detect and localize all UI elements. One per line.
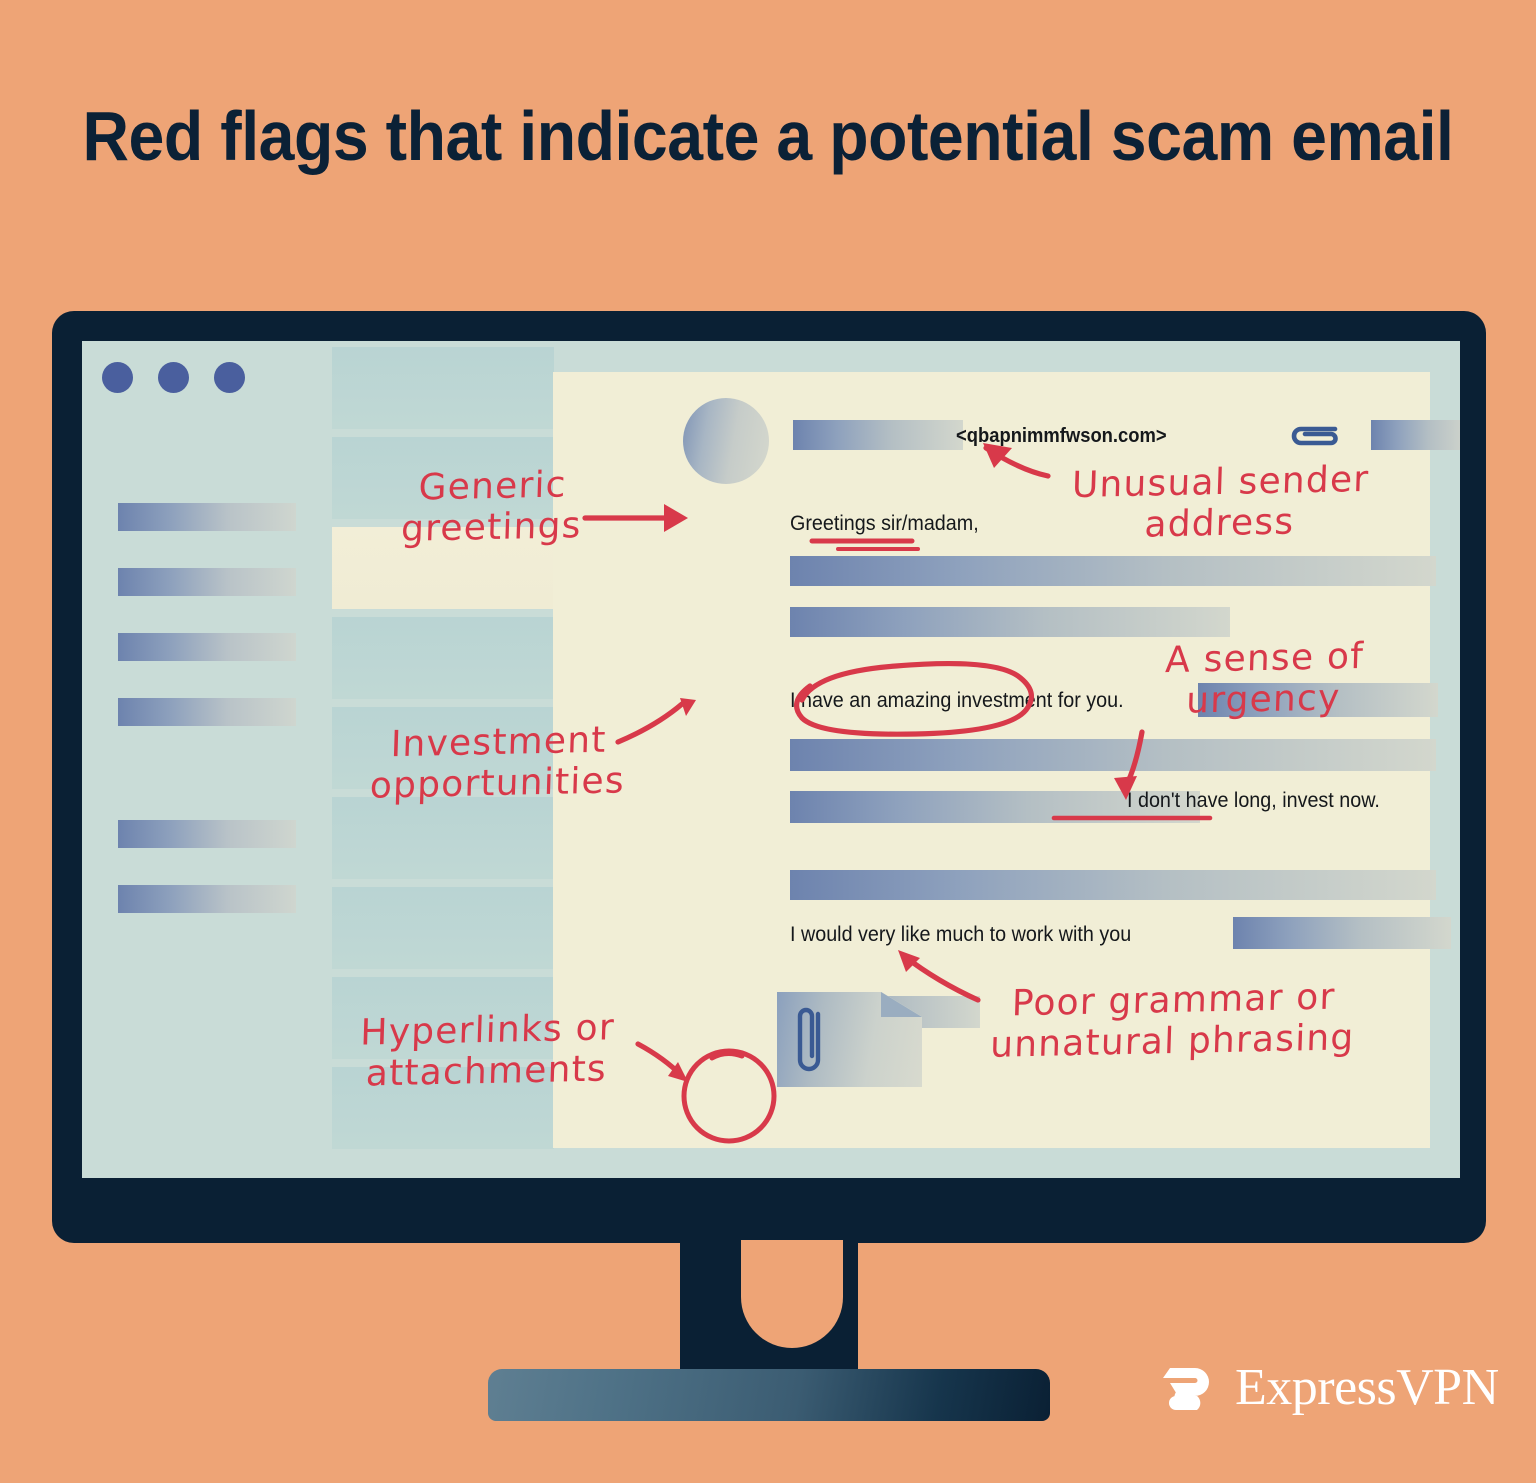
annotation-hyperlinks: Hyperlinks or attachments [343, 1007, 632, 1095]
attachment-paperclip-icon[interactable] [792, 1002, 832, 1080]
sidebar [82, 341, 332, 1178]
paperclip-icon[interactable] [1285, 421, 1343, 451]
sidebar-item-5[interactable] [118, 820, 296, 848]
sidebar-item-2[interactable] [118, 568, 296, 596]
sender-address: <qbapnimmfwson.com> [956, 425, 1167, 448]
expressvpn-logo: ExpressVPN [1157, 1356, 1499, 1418]
sidebar-item-3[interactable] [118, 633, 296, 661]
sender-name-placeholder [793, 420, 963, 450]
annotation-generic-greetings: Generic greetings [391, 464, 594, 550]
annotation-investment: Investment opportunities [361, 719, 636, 807]
expressvpn-mark-icon [1157, 1356, 1219, 1418]
body-placeholder-2 [790, 607, 1230, 637]
list-item[interactable] [332, 347, 554, 429]
annotation-urgency: A sense of urgency [1135, 635, 1394, 722]
annotation-unusual-sender: Unusual sender address [1045, 458, 1396, 547]
list-item[interactable] [332, 887, 554, 969]
body-placeholder-1 [790, 556, 1436, 586]
email-line-greeting: Greetings sir/madam, [790, 512, 979, 536]
monitor-stand-notch [741, 1240, 843, 1348]
body-placeholder-4 [790, 739, 1436, 771]
page-title: Red flags that indicate a potential scam… [61, 92, 1474, 182]
monitor-stand-base [488, 1369, 1050, 1421]
body-placeholder-6 [790, 870, 1436, 900]
expressvpn-wordmark: ExpressVPN [1235, 1358, 1499, 1417]
sidebar-item-4[interactable] [118, 698, 296, 726]
list-item[interactable] [332, 797, 554, 879]
list-item[interactable] [332, 617, 554, 699]
sidebar-item-6[interactable] [118, 885, 296, 913]
annotation-poor-grammar: Poor grammar or unnatural phrasing [981, 976, 1365, 1066]
infographic-root: Red flags that indicate a potential scam… [0, 0, 1536, 1483]
sidebar-item-1[interactable] [118, 503, 296, 531]
body-placeholder-7 [1233, 917, 1451, 949]
header-meta-placeholder [1371, 420, 1460, 450]
email-line-grammar: I would very like much to work with you [790, 923, 1131, 947]
email-line-investment: I have an amazing investment for you. [790, 689, 1124, 713]
avatar [683, 398, 769, 484]
email-line-urgency: I don't have long, invest now. [1127, 789, 1380, 813]
